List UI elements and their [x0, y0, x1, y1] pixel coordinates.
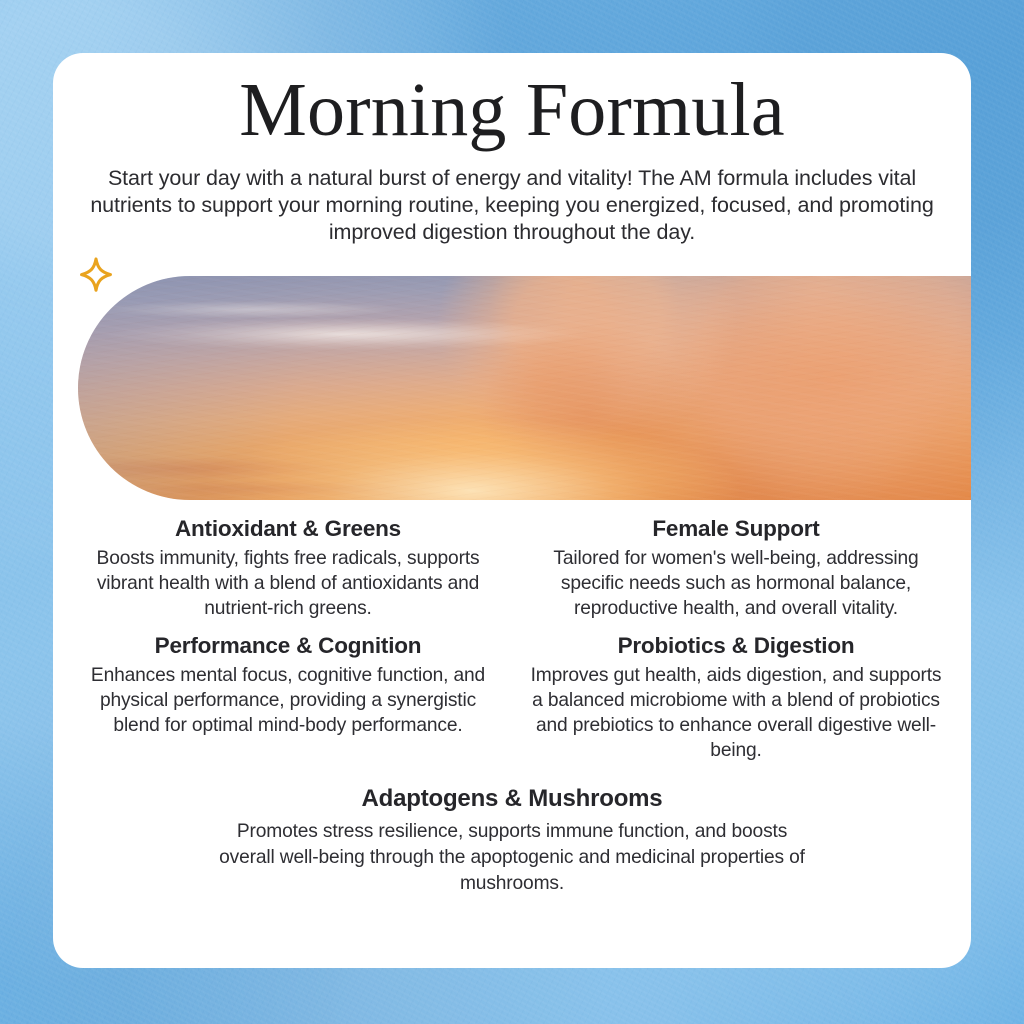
hero-banner [53, 276, 971, 500]
feature-item-adaptogens-mushrooms: Adaptogens & Mushrooms Promotes stress r… [112, 785, 912, 897]
feature-title: Antioxidant & Greens [78, 516, 498, 542]
feature-title: Adaptogens & Mushrooms [112, 785, 912, 813]
feature-description: Promotes stress resilience, supports imm… [212, 819, 812, 897]
page-subtitle: Start your day with a natural burst of e… [89, 165, 935, 246]
feature-description: Enhances mental focus, cognitive functio… [88, 663, 488, 738]
feature-item-female-support: Female Support Tailored for women's well… [520, 516, 952, 621]
hero-image [78, 276, 971, 500]
feature-description: Boosts immunity, fights free radicals, s… [88, 546, 488, 621]
sparkle-icon [75, 256, 117, 298]
feature-item-probiotics-digestion: Probiotics & Digestion Improves gut heal… [520, 633, 952, 763]
feature-title: Performance & Cognition [78, 633, 498, 659]
content-card: Morning Formula Start your day with a na… [53, 53, 971, 968]
feature-description: Tailored for women's well-being, address… [526, 546, 946, 621]
feature-description: Improves gut health, aids digestion, and… [526, 663, 946, 763]
feature-item-performance-cognition: Performance & Cognition Enhances mental … [72, 633, 504, 763]
page-root: Morning Formula Start your day with a na… [0, 0, 1024, 1024]
feature-item-antioxidant-greens: Antioxidant & Greens Boosts immunity, fi… [72, 516, 504, 621]
hero-image-grain [78, 276, 971, 500]
page-title: Morning Formula [53, 53, 971, 151]
feature-title: Probiotics & Digestion [526, 633, 946, 659]
feature-title: Female Support [526, 516, 946, 542]
feature-grid: Antioxidant & Greens Boosts immunity, fi… [72, 516, 952, 763]
